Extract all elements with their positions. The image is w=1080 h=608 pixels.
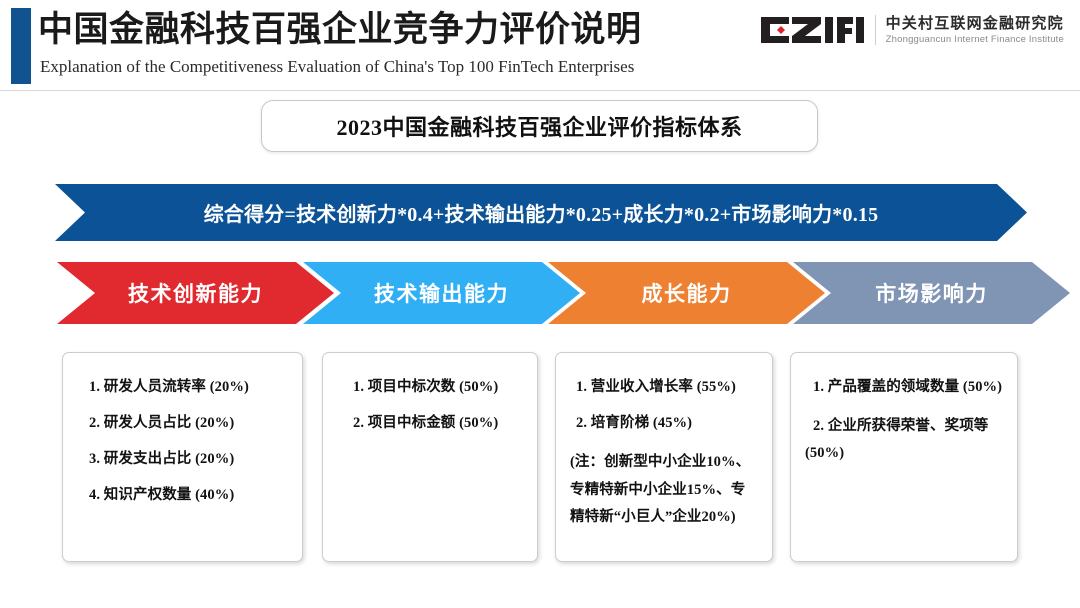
institute-logo: 中关村互联网金融研究院 Zhongguancun Internet Financ… (759, 10, 1064, 50)
detail-card-tech-innovation: 1. 研发人员流转率 (20%) 2. 研发人员占比 (20%) 3. 研发支出… (62, 352, 303, 562)
pillar-chevron-growth: 成长能力 (548, 262, 825, 324)
card-line: 1. 营业收入增长率 (55%) (570, 377, 758, 398)
logo-divider (875, 15, 876, 45)
pillar-label: 技术输出能力 (374, 278, 509, 308)
card-line: 1. 产品覆盖的领域数量 (50%) (805, 377, 1003, 398)
pillar-chevron-tech-output: 技术输出能力 (303, 262, 580, 324)
detail-card-tech-output: 1. 项目中标次数 (50%) 2. 项目中标金额 (50%) (322, 352, 538, 562)
section-title-box: 2023中国金融科技百强企业评价指标体系 (261, 100, 818, 152)
section-title-text: 2023中国金融科技百强企业评价指标体系 (336, 110, 742, 142)
header-accent-bar (11, 8, 31, 84)
logo-name-en: Zhongguancun Internet Finance Institute (886, 35, 1064, 45)
pillar-chevron-tech-innovation: 技术创新能力 (57, 262, 334, 324)
card-note: (注：创新型中小企业10%、专精特新中小企业15%、专精特新“小巨人”企业20%… (570, 449, 758, 532)
page-subtitle: Explanation of the Competitiveness Evalu… (40, 56, 634, 78)
pillar-row: 技术创新能力 技术输出能力 成长能力 市场影响力 (0, 262, 1080, 324)
pillar-label: 市场影响力 (875, 278, 988, 308)
formula-banner: 综合得分=技术创新力*0.4+技术输出能力*0.25+成长力*0.2+市场影响力… (55, 184, 1027, 241)
card-line: 2. 研发人员占比 (20%) (77, 413, 288, 434)
card-line: 1. 项目中标次数 (50%) (337, 377, 523, 398)
czifi-logomark-icon (759, 15, 865, 45)
detail-card-growth: 1. 营业收入增长率 (55%) 2. 培育阶梯 (45%) (注：创新型中小企… (555, 352, 773, 562)
card-line: 4. 知识产权数量 (40%) (77, 485, 288, 506)
page-title: 中国金融科技百强企业竞争力评价说明 (38, 8, 642, 52)
card-line: 1. 研发人员流转率 (20%) (77, 377, 288, 398)
pillar-label: 技术创新能力 (128, 278, 263, 308)
detail-card-market-influence: 1. 产品覆盖的领域数量 (50%) 2. 企业所获得荣誉、奖项等 (50%) (790, 352, 1018, 562)
logo-name-cn: 中关村互联网金融研究院 (886, 16, 1064, 31)
card-line: (50%) (805, 443, 1003, 464)
card-line: 3. 研发支出占比 (20%) (77, 449, 288, 470)
pillar-chevron-market-influence: 市场影响力 (793, 262, 1070, 324)
logo-wordmark: 中关村互联网金融研究院 Zhongguancun Internet Financ… (886, 16, 1064, 45)
formula-text: 综合得分=技术创新力*0.4+技术输出能力*0.25+成长力*0.2+市场影响力… (204, 198, 879, 227)
card-line: 2. 企业所获得荣誉、奖项等 (805, 413, 1003, 440)
card-line: 2. 培育阶梯 (45%) (570, 413, 758, 434)
header-divider (0, 90, 1080, 91)
card-line: 2. 项目中标金额 (50%) (337, 413, 523, 434)
pillar-label: 成长能力 (642, 278, 732, 308)
page-header: 中国金融科技百强企业竞争力评价说明 Explanation of the Com… (0, 0, 1080, 90)
